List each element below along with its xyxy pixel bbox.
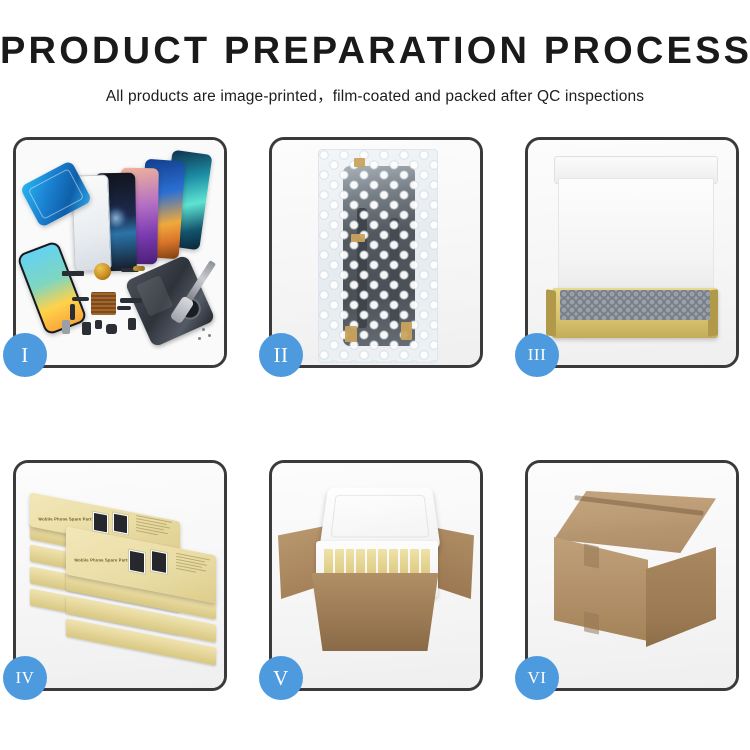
copper-coil	[94, 263, 111, 280]
step-badge-6: VI	[515, 656, 559, 700]
foam-cooler-lid	[319, 488, 440, 550]
step-badge-5: V	[259, 656, 303, 700]
flex-cable-gold	[133, 266, 145, 271]
battery-connector	[62, 271, 84, 276]
bubble-texture	[319, 150, 437, 362]
screw-2	[208, 334, 211, 337]
step-badge-2: II	[259, 333, 303, 377]
process-step-2[interactable]: II	[269, 137, 483, 368]
process-row-2: Mobile Phone Spare Parts	[13, 460, 739, 691]
step-badge-1: I	[3, 333, 47, 377]
small-ic	[95, 320, 102, 329]
outer-carton-front	[306, 573, 444, 651]
bubble-wrap-bag	[318, 149, 438, 363]
process-step-3[interactable]: III	[525, 137, 739, 368]
box-stack: Mobile Phone Spare Parts	[28, 481, 218, 677]
camera-module	[82, 322, 91, 335]
step-5-image	[272, 463, 480, 688]
white-foam-sheet	[558, 178, 714, 292]
carton-tape-upper	[584, 543, 599, 568]
tape-bottom-right	[401, 322, 412, 340]
speaker-module	[106, 324, 117, 334]
step-badge-3: III	[515, 333, 559, 377]
flex-cable-2	[72, 297, 89, 301]
step-2-image	[272, 140, 480, 365]
tape-top	[354, 158, 365, 167]
page-title: PRODUCT PREPARATION PROCESS	[0, 32, 750, 72]
carton-tape-lower	[584, 611, 599, 634]
box-phone-thumb-4	[150, 549, 168, 575]
process-step-1[interactable]: I	[13, 137, 227, 368]
step-1-image	[16, 140, 224, 365]
flex-cable-3	[70, 304, 75, 320]
tape-bottom-left	[345, 326, 357, 342]
process-step-6[interactable]: VI	[525, 460, 739, 691]
step-6-image	[528, 463, 736, 688]
process-step-grid: I II	[13, 137, 739, 691]
tape-middle	[351, 234, 365, 242]
box-label-right: Mobile Phone Spare Parts	[74, 557, 130, 562]
box-spec-lines-left	[136, 515, 172, 540]
carton-side-face	[646, 547, 716, 647]
box-spec-lines-right	[176, 553, 210, 578]
flex-cable-5	[117, 306, 131, 310]
sim-tray	[62, 320, 70, 334]
grey-bubble-wrap	[560, 290, 710, 320]
header: PRODUCT PREPARATION PROCESS All products…	[0, 32, 750, 106]
vibration-motor	[128, 318, 136, 330]
flex-cable-4	[120, 298, 142, 303]
box-phone-thumb-2	[112, 511, 129, 535]
process-step-5[interactable]: V	[269, 460, 483, 691]
screw-1	[202, 328, 205, 331]
page-subtitle: All products are image-printed，film-coat…	[0, 84, 750, 106]
product-preparation-infographic: PRODUCT PREPARATION PROCESS All products…	[0, 0, 750, 750]
carton-front-face	[554, 537, 648, 641]
screw-3	[198, 337, 201, 340]
step-4-image: Mobile Phone Spare Parts	[16, 463, 224, 688]
step-3-image	[528, 140, 736, 365]
step-badge-4: IV	[3, 656, 47, 700]
box-phone-thumb-3	[128, 548, 146, 574]
box-label-left: Mobile Phone Spare Parts	[38, 516, 94, 521]
process-step-4[interactable]: Mobile Phone Spare Parts	[13, 460, 227, 691]
process-row-1: I II	[13, 137, 739, 368]
box-flap-left	[546, 289, 556, 337]
logic-chip	[91, 292, 116, 315]
